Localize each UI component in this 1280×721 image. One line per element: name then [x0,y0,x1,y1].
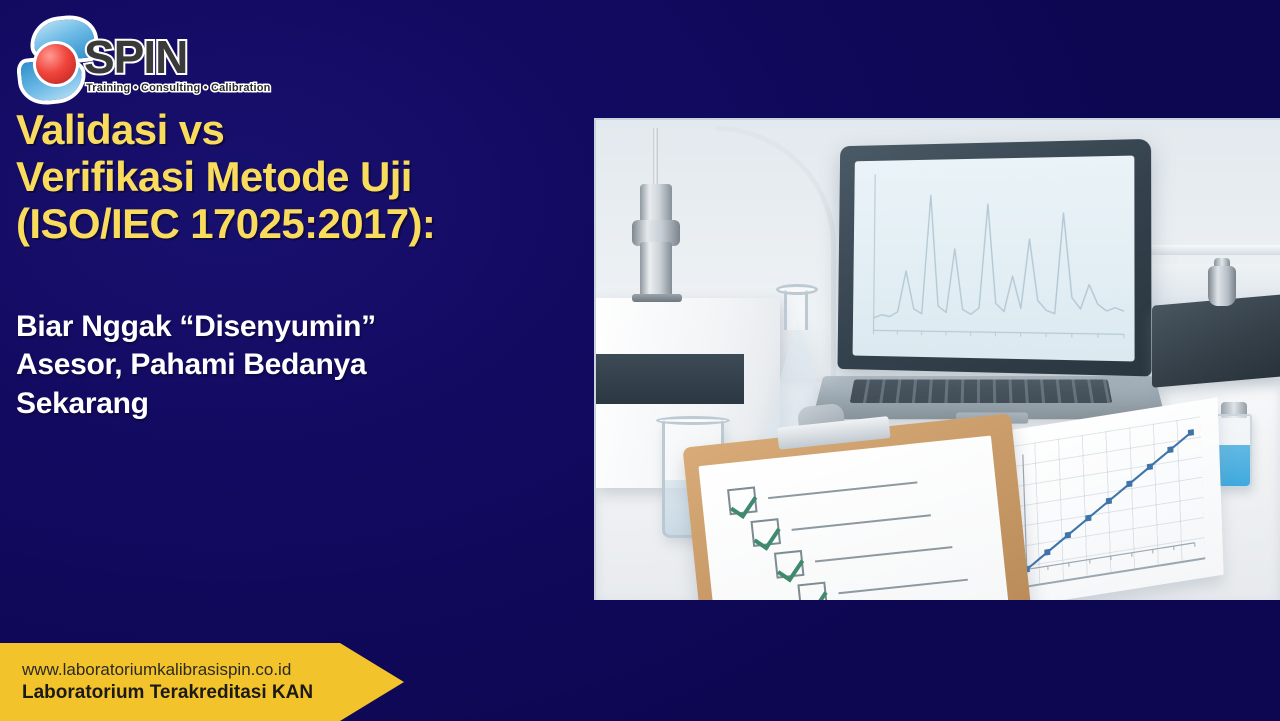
blue-vial-liquid [1218,445,1250,486]
subheadline-line-2: Asesor, Pahami Bedanya [16,346,576,384]
logo-tagline: Training • Consulting • Calibration [86,82,271,94]
probe-body-icon [1208,266,1236,306]
clipboard-paper [698,435,1008,600]
poster-canvas: SPIN Training • Consulting • Calibration… [0,0,1280,721]
laptop-keyboard [850,379,1113,403]
checklist-line [768,481,917,499]
subheadline-line-1: Biar Nggak “Disenyumin” [16,308,576,346]
subheadline-block: Biar Nggak “Disenyumin” Asesor, Pahami B… [16,308,576,423]
footer-banner: www.laboratoriumkalibrasispin.co.id Labo… [0,643,404,721]
checklist-line [815,546,952,562]
beaker-rim-icon [656,416,730,425]
stand-collar-lower-icon [640,242,672,298]
laptop-lid [837,139,1151,377]
logo-red-sphere-icon [36,44,76,84]
stand-base-icon [632,294,682,302]
checkmark-icon [797,582,828,600]
headline-line-1: Validasi vs [16,106,576,153]
checkmark-icon [774,550,805,579]
checklist-line [792,514,931,531]
calibration-curve-chart [1009,416,1206,589]
checkmark-icon [750,518,781,547]
blue-vial [1216,414,1252,488]
laboratory-photo [594,118,1280,600]
logo-wordmark: SPIN [84,34,187,80]
dark-instrument-block [1152,294,1280,388]
headline-line-3: (ISO/IEC 17025:2017): [16,200,576,247]
subheadline-line-3: Sekarang [16,385,576,423]
checkmark-icon [727,486,758,515]
stand-rod-icon [653,128,658,188]
spin-logo: SPIN Training • Consulting • Calibration [18,16,208,104]
laptop [818,142,1160,432]
flask-neck-icon [784,290,808,330]
clipboard [682,413,1031,600]
headline-line-2: Verifikasi Metode Uji [16,153,576,200]
checklist-line [838,579,967,595]
instrument-display [594,354,744,404]
headline-block: Validasi vs Verifikasi Metode Uji (ISO/I… [16,106,576,247]
accreditation-text: Laboratorium Terakreditasi KAN [22,681,404,706]
flask-mouth-icon [776,284,818,295]
website-url: www.laboratoriumkalibrasispin.co.id [22,659,404,681]
laptop-screen [853,156,1135,362]
chromatogram-chart [853,156,1135,362]
